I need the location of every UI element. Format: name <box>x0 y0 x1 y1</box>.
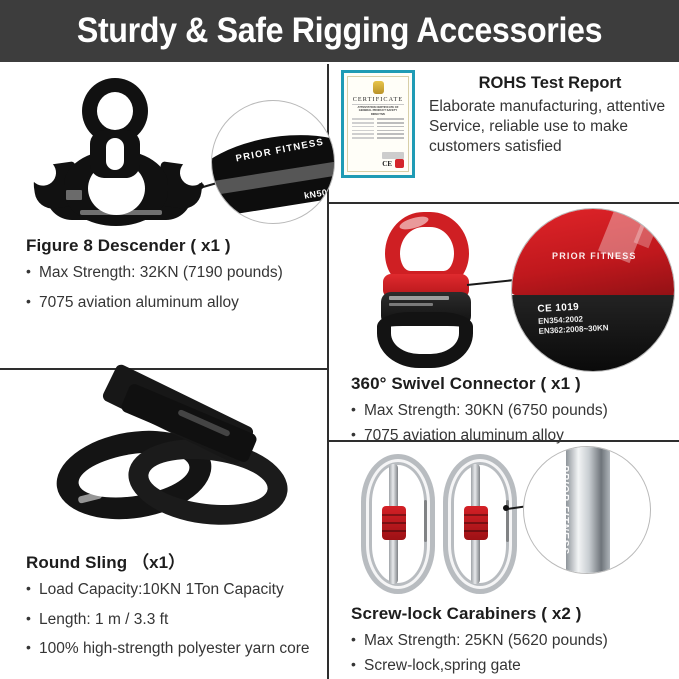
swivel-brand-text: PRIOR FITNESS <box>552 251 637 261</box>
page-title: Sturdy & Safe Rigging Accessories <box>77 11 602 51</box>
figure-8-spec-list: Max Strength: 32KN (7190 pounds) 7075 av… <box>26 263 317 313</box>
swivel-connector-icon <box>355 212 505 368</box>
list-item: Load Capacity:10KN 1Ton Capacity <box>26 580 317 601</box>
figure-8-artwork: PRIOR FITNESS kN50 <box>26 68 317 236</box>
list-item: Length: 1 m / 3.3 ft <box>26 610 317 631</box>
figure-8-leader-dot <box>198 183 204 189</box>
certificate-seal-icon <box>373 81 384 94</box>
panel-swivel-connector: PRIOR FITNESS CE 1019 EN354:2002 EN362:2… <box>329 204 679 440</box>
list-item: Max Strength: 25KN (5620 pounds) <box>351 631 671 652</box>
carabiners-title: Screw-lock Carabiners ( x2 ) <box>351 604 671 624</box>
carabiners-spec-list: Max Strength: 25KN (5620 pounds) Screw-l… <box>351 631 671 676</box>
panel-screw-lock-carabiners: PRIOR FITNESS Screw-lock Carabiners ( x2… <box>329 442 679 679</box>
round-sling-artwork <box>26 376 317 548</box>
list-item: 7075 aviation aluminum alloy <box>26 293 317 314</box>
infographic-page: Sturdy & Safe Rigging Accessories <box>0 0 679 679</box>
list-item: Screw-lock,spring gate <box>351 656 671 677</box>
carabiner-leader-dot <box>503 505 509 511</box>
rohs-body-text: Elaborate manufacturing, attentive Servi… <box>429 97 671 157</box>
panel-figure-8-descender: PRIOR FITNESS kN50 Figure 8 Descender ( … <box>0 62 327 368</box>
carabiner-magnifier: PRIOR FITNESS <box>523 446 651 574</box>
ce-mark-icon: CE <box>382 160 392 168</box>
list-item: 100% high-strength polyester yarn core <box>26 639 317 660</box>
rohs-title: ROHS Test Report <box>429 74 671 93</box>
carabiner-icon-1 <box>361 454 435 594</box>
round-sling-title: Round Sling （x1） <box>26 548 317 573</box>
swivel-magnifier: PRIOR FITNESS CE 1019 EN354:2002 EN362:2… <box>511 208 675 372</box>
round-sling-icon <box>50 390 298 540</box>
carabiner-engraving-text: PRIOR FITNESS <box>559 465 570 555</box>
certificate-thumbnail: CERTIFICATE ATTESTATION CERTIFICATE OF G… <box>341 70 415 178</box>
swivel-certification-text: CE 1019 EN354:2002 EN362:2008~30KN <box>537 299 609 338</box>
swivel-spec-list: Max Strength: 30KN (6750 pounds) 7075 av… <box>351 401 671 446</box>
safety-mark-icon <box>395 159 404 168</box>
certificate-title: CERTIFICATE <box>352 96 404 105</box>
figure-8-title: Figure 8 Descender ( x1 ) <box>26 236 317 256</box>
certificate-subtitle: ATTESTATION CERTIFICATE OF GENERAL PRODU… <box>352 106 404 116</box>
panel-round-sling: Round Sling （x1） Load Capacity:10KN 1Ton… <box>0 370 327 679</box>
certificate-signature <box>382 152 404 159</box>
list-item: Max Strength: 32KN (7190 pounds) <box>26 263 317 284</box>
carabiner-artwork: PRIOR FITNESS <box>351 446 671 604</box>
figure-8-descender-icon <box>34 78 204 226</box>
header-banner: Sturdy & Safe Rigging Accessories <box>0 0 679 62</box>
carabiner-icon-2 <box>443 454 517 594</box>
figure-8-magnifier: PRIOR FITNESS kN50 <box>211 100 335 224</box>
swivel-title: 360° Swivel Connector ( x1 ) <box>351 374 671 394</box>
content-grid: PRIOR FITNESS kN50 Figure 8 Descender ( … <box>0 62 679 679</box>
list-item: Max Strength: 30KN (6750 pounds) <box>351 401 671 422</box>
round-sling-spec-list: Load Capacity:10KN 1Ton Capacity Length:… <box>26 580 317 660</box>
swivel-artwork: PRIOR FITNESS CE 1019 EN354:2002 EN362:2… <box>351 206 671 374</box>
panel-rohs-test-report: CERTIFICATE ATTESTATION CERTIFICATE OF G… <box>329 62 679 202</box>
